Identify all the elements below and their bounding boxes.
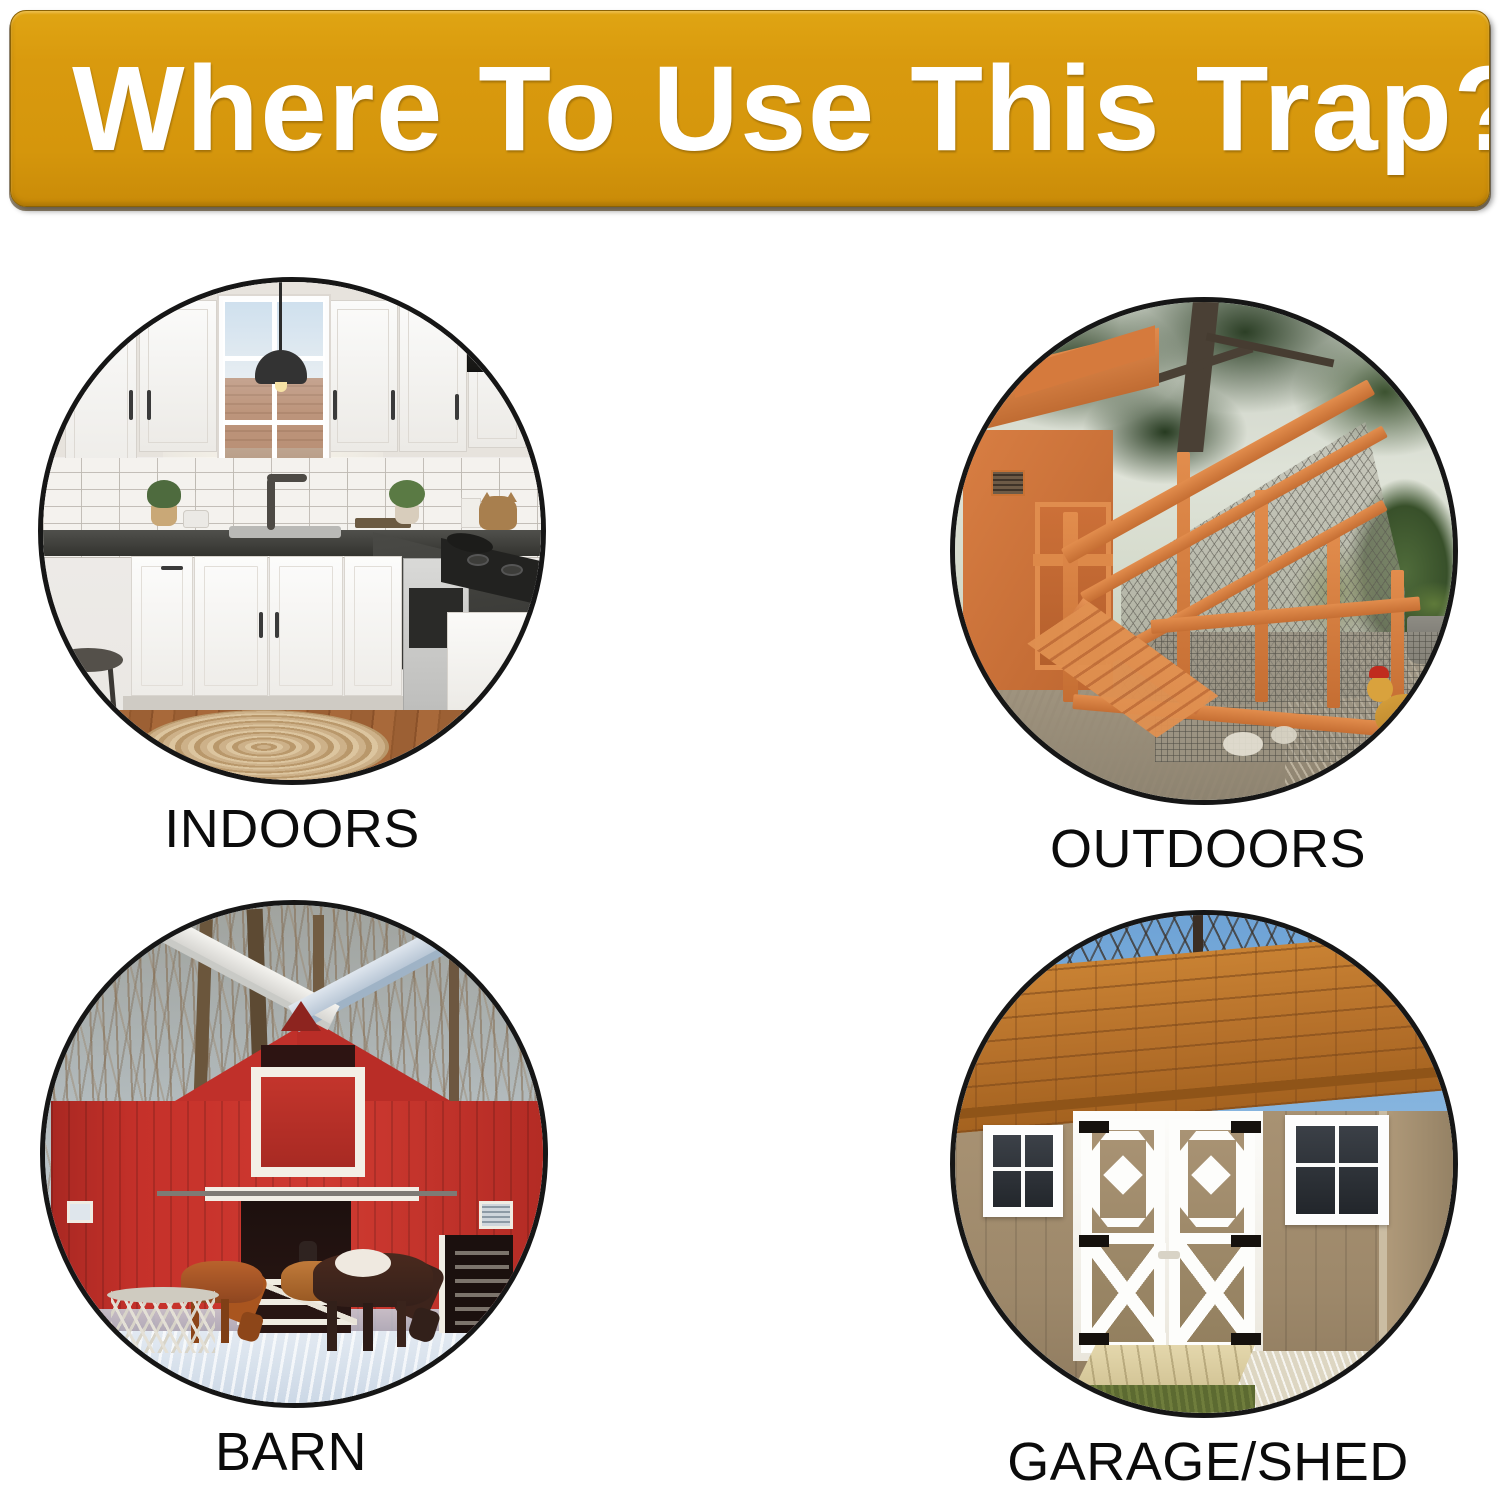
stool-seat	[53, 648, 123, 672]
photo-circle-indoors	[38, 277, 546, 785]
plant-foliage-left	[147, 480, 181, 508]
base-cabinet-handle-1	[259, 612, 263, 638]
door-hinge-bottom-left	[1079, 1333, 1109, 1345]
run-mullion-2	[1255, 490, 1268, 702]
door-hinge-top-right	[1231, 1121, 1261, 1133]
usage-card-outdoors: OUTDOORS	[928, 297, 1488, 880]
page-title: Where To Use This Trap?	[11, 48, 1490, 169]
door-right-x-brace	[1176, 1243, 1254, 1345]
faucet-stem	[267, 478, 275, 530]
stool-footrail	[59, 714, 119, 718]
base-drawer-handle	[161, 566, 183, 570]
usage-card-barn: BARN	[12, 900, 572, 1483]
cabinet-handle-5	[455, 394, 459, 420]
window-left-mullion-vertical	[1021, 1135, 1025, 1207]
door-hinge-top-left	[1079, 1121, 1109, 1133]
barn-scene	[45, 905, 543, 1403]
barn-side-door-interior	[455, 1251, 509, 1325]
chicken-inside-2	[1271, 726, 1297, 744]
hayloft-window-panel	[261, 1077, 355, 1167]
cabinet-handle-1	[129, 390, 133, 420]
base-cabinet-2	[194, 556, 268, 696]
faucet-spout	[267, 474, 307, 482]
caption-indoors: INDOORS	[8, 798, 576, 860]
photo-circle-barn	[40, 900, 548, 1408]
tree-trunk-d	[449, 923, 459, 1123]
door-hinge-mid-left	[1079, 1235, 1109, 1247]
horse-paint-leg-2	[363, 1303, 373, 1351]
kitchen-scene	[43, 282, 541, 780]
upper-cabinet-3	[328, 300, 398, 452]
coop-vent-window	[991, 470, 1025, 496]
counter-jar	[461, 498, 481, 528]
photo-circle-garage-shed	[950, 910, 1458, 1418]
window-right-mullion-vertical	[1335, 1126, 1339, 1214]
upper-cabinet-4	[399, 300, 467, 452]
barn-vent-right	[479, 1201, 513, 1229]
horse-paint-leg-3	[397, 1301, 406, 1347]
caption-outdoors: OUTDOORS	[928, 818, 1488, 880]
usage-card-indoors: INDOORS	[16, 277, 576, 860]
cat-figurine	[479, 496, 517, 530]
pendant-light-cord	[279, 282, 282, 354]
base-cabinet-handle-2	[275, 612, 279, 638]
cabinet-handle-4	[391, 390, 395, 420]
usage-locations-grid: INDOORS	[0, 212, 1500, 1474]
horse-chestnut-leg-2	[221, 1299, 229, 1343]
cabinet-toe-kick	[123, 696, 413, 710]
upper-cabinet-2	[139, 300, 217, 452]
barn-window-left	[67, 1201, 93, 1223]
horse-paint-leg-1	[327, 1301, 337, 1351]
chicken-head	[1367, 676, 1393, 702]
chicken-coop-scene	[955, 302, 1453, 800]
base-cabinet-3	[269, 556, 343, 696]
door-latch-handle[interactable]	[1158, 1251, 1180, 1259]
window-mullion-horizontal-2	[225, 420, 323, 425]
shed-grass	[955, 1385, 1255, 1418]
photo-circle-outdoors	[950, 297, 1458, 805]
cabinet-handle-2	[147, 390, 151, 420]
cooktop-burner-2	[501, 564, 523, 576]
oval-jute-rug	[139, 710, 389, 784]
microwave-door-glass	[475, 314, 523, 360]
shed-side-wall	[1385, 1111, 1458, 1371]
door-hinge-bottom-right	[1231, 1333, 1261, 1345]
caption-garage-shed: GARAGE/SHED	[928, 1431, 1488, 1493]
barn-door-track-rail	[157, 1191, 457, 1196]
horse-paint-white-patch	[335, 1249, 391, 1277]
plant-foliage-right	[389, 480, 425, 508]
base-cabinet-4	[344, 556, 402, 696]
base-cabinet-1	[131, 556, 193, 696]
hay-feeder-ring	[107, 1287, 219, 1303]
garage-shed-scene	[955, 915, 1453, 1413]
chicken-comb	[1369, 666, 1389, 678]
run-mullion-3	[1327, 530, 1340, 708]
kettle	[183, 510, 209, 528]
window-left-mullion-horizontal	[993, 1167, 1053, 1171]
door-hinge-mid-right	[1231, 1235, 1261, 1247]
usage-card-garage-shed: GARAGE/SHED	[928, 910, 1488, 1493]
cooktop-burner-1	[467, 554, 489, 566]
chicken-inside-1	[1223, 732, 1263, 756]
kitchen-sink	[229, 526, 341, 538]
cabinet-handle-3	[333, 390, 337, 420]
door-left-x-brace	[1088, 1243, 1166, 1345]
window-right-mullion-horizontal	[1296, 1163, 1378, 1167]
header-banner: Where To Use This Trap?	[10, 10, 1490, 207]
